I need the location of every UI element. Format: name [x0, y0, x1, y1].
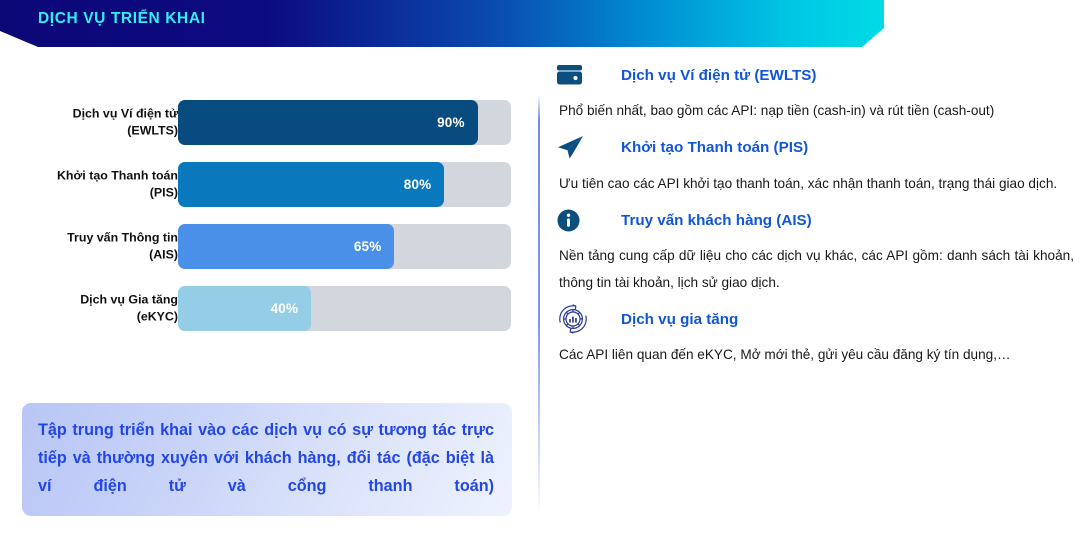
bar-value: 80% — [404, 177, 445, 192]
info-title: Khởi tạo Thanh toán (PIS) — [621, 139, 808, 156]
info-body: Các API liên quan đến eKYC, Mở mới thẻ, … — [559, 342, 1074, 369]
info-block-value-added: Dịch vụ gia tăng Các API liên quan đến e… — [556, 302, 1074, 369]
bar-label: Dịch vụ Gia tăng (eKYC) — [0, 291, 178, 326]
bar-row: Dịch vụ Ví điện tử (EWLTS) 90% — [0, 100, 520, 145]
info-block-ais: Truy vấn khách hàng (AIS) Nền tảng cung … — [556, 203, 1074, 296]
bar-value: 65% — [354, 239, 395, 254]
info-block-ewlts: Dịch vụ Ví điện tử (EWLTS) Phổ biến nhất… — [556, 58, 1074, 125]
callout-text: Tập trung triển khai vào các dịch vụ có … — [38, 417, 494, 501]
bar-label: Dịch vụ Ví điện tử (EWLTS) — [0, 105, 178, 140]
bar-value: 90% — [437, 115, 478, 130]
bar-label-line1: Dịch vụ Ví điện tử — [73, 106, 178, 120]
bar-fill: 80% — [178, 162, 444, 207]
bar-label-line2: (EWLTS) — [0, 123, 178, 141]
info-head: Truy vấn khách hàng (AIS) — [556, 203, 1074, 237]
info-title: Dịch vụ Ví điện tử (EWLTS) — [621, 67, 817, 84]
bar-row: Dịch vụ Gia tăng (eKYC) 40% — [0, 286, 520, 331]
info-body: Ưu tiên cao các API khởi tạo thanh toán,… — [559, 171, 1074, 198]
info-title: Dịch vụ gia tăng — [621, 311, 738, 328]
send-paper-plane-icon — [556, 132, 596, 164]
bar-track: 80% — [178, 162, 511, 207]
info-block-pis: Khởi tạo Thanh toán (PIS) Ưu tiên cao cá… — [556, 131, 1074, 198]
info-circle-icon — [556, 204, 596, 236]
bar-value: 40% — [271, 301, 312, 316]
callout-box: Tập trung triển khai vào các dịch vụ có … — [22, 403, 512, 516]
bar-row: Truy vấn Thông tin (AIS) 65% — [0, 224, 520, 269]
bar-label-line2: (AIS) — [0, 247, 178, 265]
bar-chart: Dịch vụ Ví điện tử (EWLTS) 90% Khởi tạo … — [0, 100, 520, 348]
bar-fill: 40% — [178, 286, 311, 331]
info-panel: Dịch vụ Ví điện tử (EWLTS) Phổ biến nhất… — [556, 58, 1074, 375]
gear-chart-icon — [556, 303, 596, 335]
info-head: Khởi tạo Thanh toán (PIS) — [556, 131, 1074, 165]
bar-label-line1: Khởi tạo Thanh toán — [57, 168, 178, 182]
bar-label-line1: Dịch vụ Gia tăng — [80, 292, 178, 306]
info-head: Dịch vụ gia tăng — [556, 302, 1074, 336]
bar-fill: 65% — [178, 224, 394, 269]
bar-label: Truy vấn Thông tin (AIS) — [0, 229, 178, 264]
info-body: Phổ biến nhất, bao gồm các API: nạp tiền… — [559, 98, 1074, 125]
bar-label-line2: (eKYC) — [0, 309, 178, 327]
column-divider — [538, 95, 540, 513]
bar-label: Khởi tạo Thanh toán (PIS) — [0, 167, 178, 202]
wallet-icon — [556, 59, 596, 91]
page-title: DỊCH VỤ TRIỂN KHAI — [38, 10, 206, 28]
bar-track: 90% — [178, 100, 511, 145]
bar-label-line1: Truy vấn Thông tin — [67, 230, 178, 244]
info-body: Nền tảng cung cấp dữ liệu cho các dịch v… — [559, 243, 1074, 296]
bar-track: 40% — [178, 286, 511, 331]
info-title: Truy vấn khách hàng (AIS) — [621, 212, 812, 229]
bar-track: 65% — [178, 224, 511, 269]
bar-row: Khởi tạo Thanh toán (PIS) 80% — [0, 162, 520, 207]
bar-fill: 90% — [178, 100, 478, 145]
info-head: Dịch vụ Ví điện tử (EWLTS) — [556, 58, 1074, 92]
bar-label-line2: (PIS) — [0, 185, 178, 203]
